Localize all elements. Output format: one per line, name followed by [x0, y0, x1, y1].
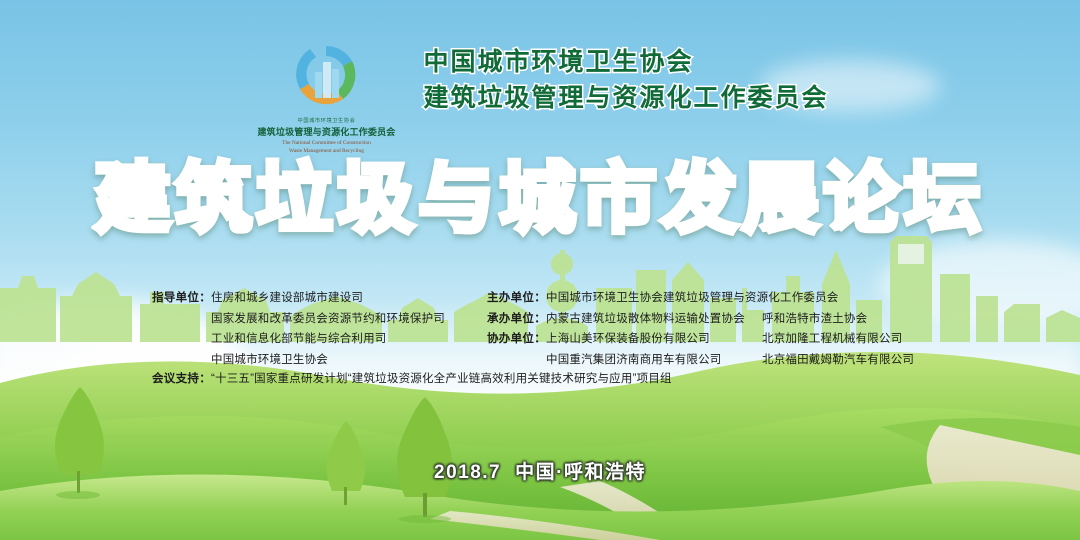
host-value-1: 中国城市环境卫生协会建筑垃圾管理与资源化工作委员会 — [546, 288, 839, 309]
organizer-value-a: 内蒙古建筑垃圾散体物料运输处置协会 — [546, 309, 745, 330]
banner-header: 中国城市环境卫生协会 建筑垃圾管理与资源化工作委员会 The National … — [0, 38, 1080, 156]
coorganizer-value-2a: 中国重汽集团济南商用车有限公司 — [546, 350, 722, 371]
guidance-value-2: 国家发展和改革委员会资源节约和环境保护司 — [211, 309, 445, 330]
event-date: 2018.7 — [434, 462, 501, 483]
guidance-label: 指导单位： — [152, 288, 211, 309]
logo-english-text: The National Committee of Construction W… — [282, 140, 371, 156]
coorganizer-label: 协办单位： — [487, 329, 546, 350]
organizer-value-b: 呼和浩特市渣土协会 — [762, 309, 867, 330]
conference-banner: 中国城市环境卫生协会 建筑垃圾管理与资源化工作委员会 The National … — [0, 0, 1080, 540]
coorganizer-value-1b: 北京加隆工程机械有限公司 — [762, 329, 902, 350]
guidance-row: 指导单位： 住房和城乡建设部城市建设司 — [152, 288, 445, 309]
support-value: “十三五”国家重点研发计划“建筑垃圾资源化全产业链高效利用关键技术研究与应用”项… — [211, 370, 672, 386]
info-column-right: 主办单位： 中国城市环境卫生协会建筑垃圾管理与资源化工作委员会 承办单位： 内蒙… — [487, 288, 839, 370]
event-date-location: 2018.7中国·呼和浩特 — [0, 457, 1080, 484]
support-label: 会议支持： — [152, 370, 211, 386]
committee-logo: 中国城市环境卫生协会 建筑垃圾管理与资源化工作委员会 The National … — [251, 38, 401, 156]
info-block: 指导单位： 住房和城乡建设部城市建设司 指导单位： 国家发展和改革委员会资源节约… — [0, 288, 1080, 398]
coorganizer-value-1a: 上海山美环保装备股份有限公司 — [546, 329, 710, 350]
organization-names: 中国城市环境卫生协会 建筑垃圾管理与资源化工作委员会 — [423, 38, 828, 115]
logo-english-line2: Waste Management and Recycling — [282, 148, 371, 156]
event-location: 中国·呼和浩特 — [515, 462, 646, 483]
support-row: 会议支持： “十三五”国家重点研发计划“建筑垃圾资源化全产业链高效利用关键技术研… — [152, 370, 672, 386]
org-name-line-1: 中国城市环境卫生协会 — [423, 46, 828, 80]
organizer-label: 承办单位： — [487, 309, 546, 330]
logo-main-text: 建筑垃圾管理与资源化工作委员会 — [257, 125, 395, 138]
guidance-value-4: 中国城市环境卫生协会 — [211, 350, 328, 371]
org-name-line-2: 建筑垃圾管理与资源化工作委员会 — [423, 82, 828, 116]
info-column-left: 指导单位： 住房和城乡建设部城市建设司 指导单位： 国家发展和改革委员会资源节约… — [152, 288, 445, 370]
page-title: 建筑垃圾与城市发展论坛 — [95, 162, 986, 238]
logo-english-line1: The National Committee of Construction — [282, 140, 371, 148]
guidance-value-3: 工业和信息化部节能与综合利用司 — [211, 329, 387, 350]
organizer-row: 承办单位： 内蒙古建筑垃圾散体物料运输处置协会 呼和浩特市渣土协会 — [487, 309, 839, 330]
coorganizer-row: 协办单位： 中国重汽集团济南商用车有限公司 北京福田戴姆勒汽车有限公司 — [487, 350, 839, 371]
guidance-row: 指导单位： 国家发展和改革委员会资源节约和环境保护司 — [152, 309, 445, 330]
host-label: 主办单位： — [487, 288, 546, 309]
guidance-value-1: 住房和城乡建设部城市建设司 — [211, 288, 363, 309]
guidance-row: 指导单位： 中国城市环境卫生协会 — [152, 350, 445, 371]
host-row: 主办单位： 中国城市环境卫生协会建筑垃圾管理与资源化工作委员会 — [487, 288, 839, 309]
coorganizer-value-2b: 北京福田戴姆勒汽车有限公司 — [762, 350, 914, 371]
main-title-wrap: 建筑垃圾与城市发展论坛 — [0, 162, 1080, 238]
guidance-row: 指导单位： 工业和信息化部节能与综合利用司 — [152, 329, 445, 350]
coorganizer-row: 协办单位： 上海山美环保装备股份有限公司 北京加隆工程机械有限公司 — [487, 329, 839, 350]
recycle-building-logo-icon — [288, 38, 364, 114]
logo-top-text: 中国城市环境卫生协会 — [298, 117, 356, 124]
